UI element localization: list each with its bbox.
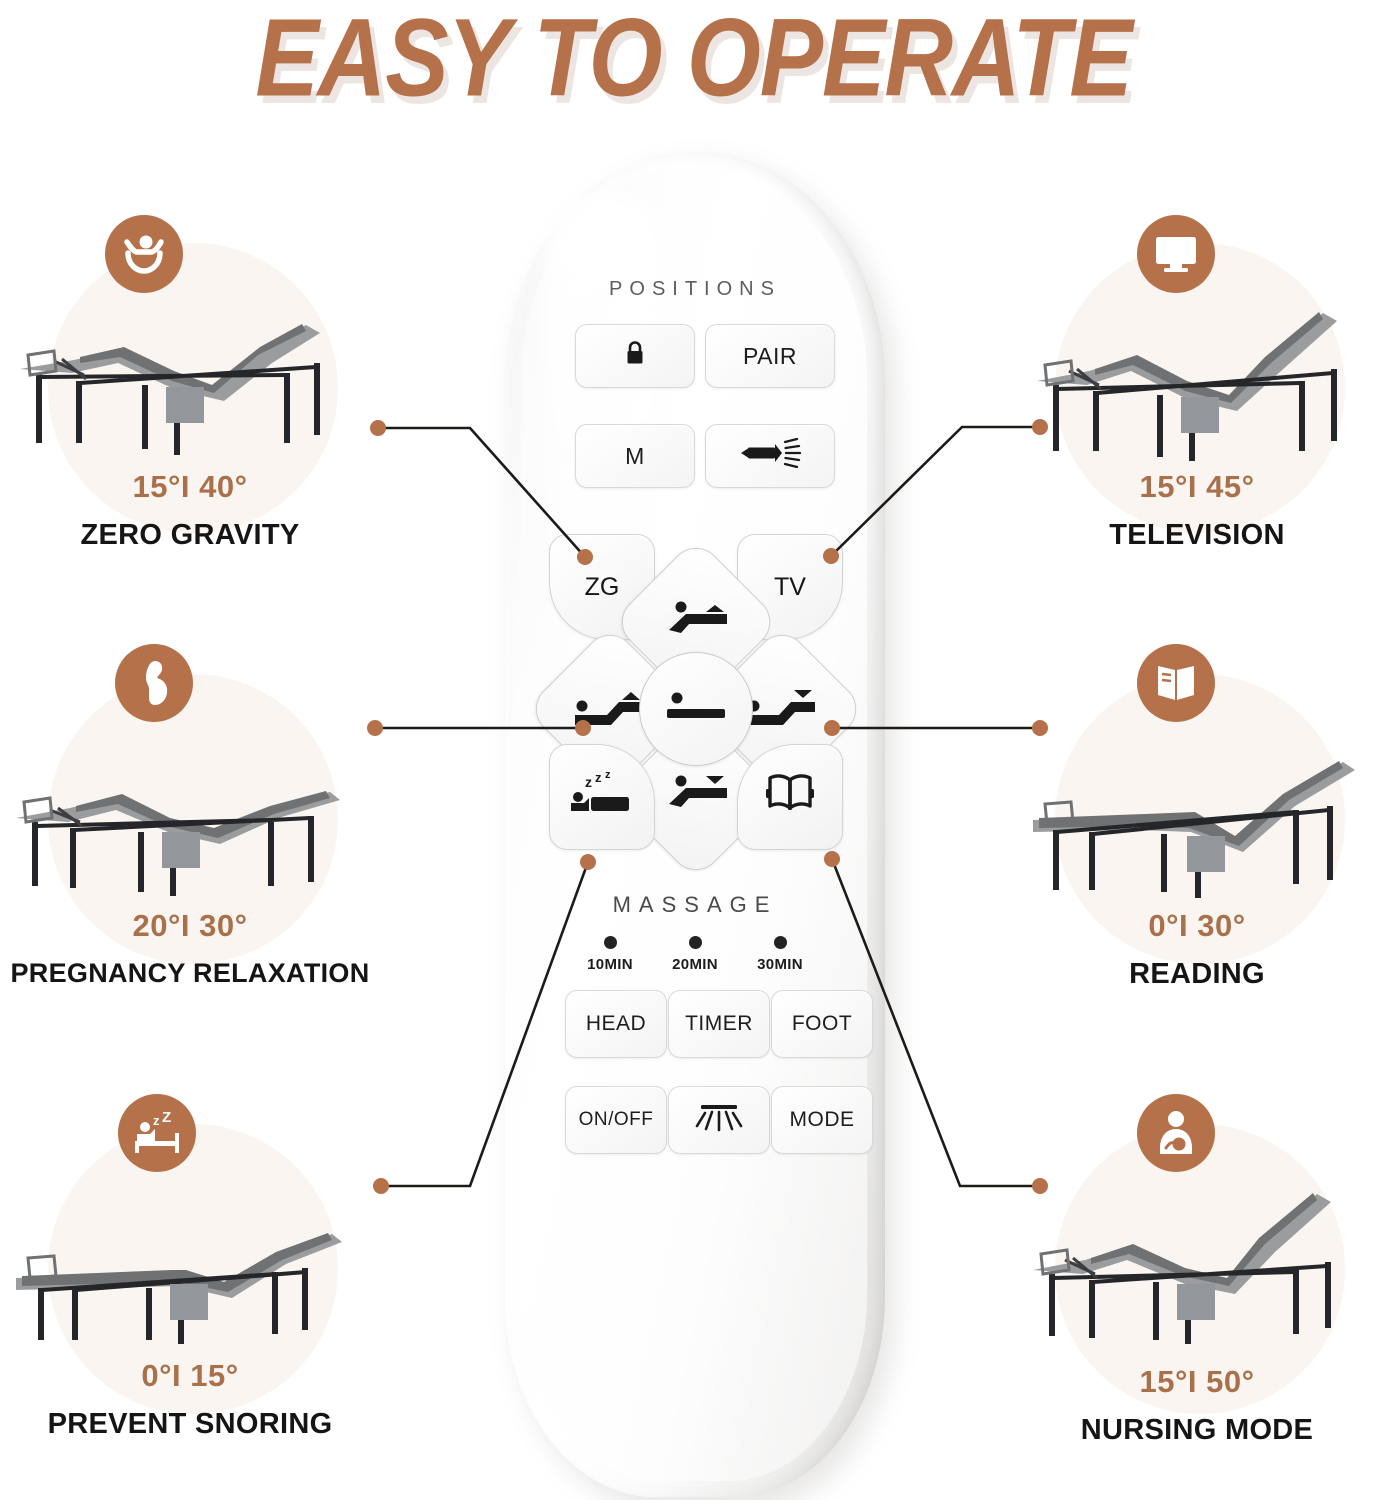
massage-timer-label: 20MIN bbox=[652, 956, 738, 973]
feature-degrees: 15°I 45° bbox=[1017, 469, 1377, 505]
svg-text:z: z bbox=[605, 770, 611, 781]
underbed-light-button[interactable] bbox=[668, 1086, 770, 1154]
feature-name: TELEVISION bbox=[1017, 519, 1377, 552]
feature-nursing-mode: 15°I 50° NURSING MODE bbox=[1017, 1086, 1377, 1456]
massage-timer-label: 30MIN bbox=[737, 956, 823, 973]
feature-degrees: 20°I 30° bbox=[10, 908, 370, 944]
memory-button[interactable]: M bbox=[575, 424, 695, 488]
massage-foot-button[interactable]: FOOT bbox=[771, 990, 873, 1058]
svg-text:z: z bbox=[153, 1113, 160, 1128]
bed-illustration bbox=[1027, 740, 1377, 900]
led-indicator bbox=[604, 936, 617, 949]
massage-section-label: MASSAGE bbox=[505, 892, 885, 918]
bed-illustration bbox=[14, 297, 364, 457]
feature-name: NURSING MODE bbox=[1017, 1414, 1377, 1447]
massage-timer-button[interactable]: TIMER bbox=[668, 990, 770, 1058]
flashlight-button[interactable] bbox=[705, 424, 835, 488]
nursing-icon bbox=[1137, 1094, 1215, 1172]
flashlight-icon bbox=[739, 438, 801, 474]
television-icon bbox=[1137, 215, 1215, 293]
massage-timer-10min: 10MIN bbox=[567, 936, 653, 973]
feature-name: PREVENT SNORING bbox=[10, 1408, 370, 1441]
feature-pregnancy-relaxation: 20°I 30° PREGNANCY RELAXATION bbox=[10, 636, 370, 1006]
snoring-icon: z Z bbox=[118, 1094, 196, 1172]
bed-illustration bbox=[1027, 1178, 1377, 1348]
flat-position-button[interactable] bbox=[639, 652, 753, 766]
svg-text:z: z bbox=[595, 770, 602, 785]
pregnancy-icon bbox=[115, 644, 193, 722]
massage-timer-30min: 30MIN bbox=[737, 936, 823, 973]
feature-degrees: 15°I 50° bbox=[1017, 1364, 1377, 1400]
page-title: EASY TO OPERATE bbox=[0, 0, 1387, 122]
snore-bed-icon: z z z bbox=[569, 770, 635, 825]
zero-gravity-icon bbox=[105, 215, 183, 293]
bed-illustration bbox=[10, 736, 360, 896]
open-book-icon bbox=[765, 772, 815, 823]
lock-button[interactable] bbox=[575, 324, 695, 388]
feature-prevent-snoring: z Z 0°I 15° PREVENT SNORING bbox=[10, 1086, 370, 1456]
massage-timer-20min: 20MIN bbox=[652, 936, 738, 973]
feature-name: PREGNANCY RELAXATION bbox=[10, 958, 370, 989]
feature-degrees: 15°I 40° bbox=[10, 469, 370, 505]
feature-name: READING bbox=[1017, 958, 1377, 991]
feature-name: ZERO GRAVITY bbox=[10, 519, 370, 552]
massage-mode-button[interactable]: MODE bbox=[771, 1086, 873, 1154]
svg-text:Z: Z bbox=[162, 1111, 171, 1126]
massage-timer-label: 10MIN bbox=[567, 956, 653, 973]
flat-bed-icon bbox=[663, 690, 729, 729]
open-book-icon bbox=[1137, 644, 1215, 722]
feature-degrees: 0°I 30° bbox=[1017, 908, 1377, 944]
underbed-light-icon bbox=[695, 1100, 743, 1140]
feature-reading: 0°I 30° READING bbox=[1017, 636, 1377, 1006]
feature-degrees: 0°I 15° bbox=[10, 1358, 370, 1394]
svg-text:z: z bbox=[585, 774, 592, 790]
feature-television: 15°I 45° TELEVISION bbox=[1017, 205, 1377, 565]
massage-head-button[interactable]: HEAD bbox=[565, 990, 667, 1058]
bed-illustration bbox=[10, 1186, 360, 1346]
positions-section-label: POSITIONS bbox=[505, 278, 885, 301]
lock-icon bbox=[624, 340, 646, 372]
pair-button[interactable]: PAIR bbox=[705, 324, 835, 388]
bed-illustration bbox=[1031, 301, 1381, 461]
led-indicator bbox=[689, 936, 702, 949]
massage-onoff-button[interactable]: ON/OFF bbox=[565, 1086, 667, 1154]
feature-zero-gravity: 15°I 40° ZERO GRAVITY bbox=[10, 205, 370, 565]
remote-control: POSITIONS PAIR M ZG TV bbox=[505, 152, 885, 1497]
led-indicator bbox=[774, 936, 787, 949]
